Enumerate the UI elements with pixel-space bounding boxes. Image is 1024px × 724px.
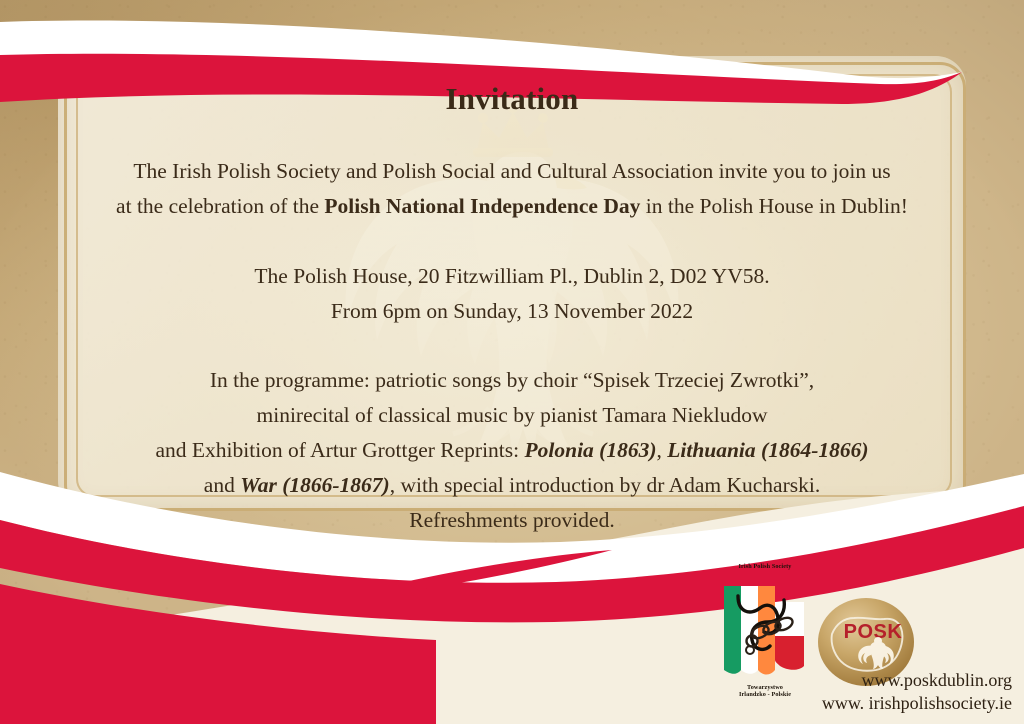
website-links: www.poskdublin.org www. irishpolishsocie… <box>822 669 1012 717</box>
page-title: Invitation <box>72 82 952 116</box>
programme-line-4-suffix: , with special introduction by dr Adam K… <box>390 473 821 497</box>
programme-line-5: Refreshments provided. <box>409 508 614 532</box>
venue-paragraph: The Polish House, 20 Fitzwilliam Pl., Du… <box>72 259 952 329</box>
independence-day-emphasis: Polish National Independence Day <box>324 194 640 218</box>
programme-line-1: In the programme: patriotic songs by cho… <box>210 368 814 392</box>
programme-line-4-prefix: and <box>204 473 240 497</box>
intro-paragraph: The Irish Polish Society and Polish Soci… <box>72 154 952 224</box>
invitation-card: Invitation The Irish Polish Society and … <box>0 0 1024 724</box>
programme-line-2: minirecital of classical music by pianis… <box>257 403 768 427</box>
intro-line-2-suffix: in the Polish House in Dublin! <box>640 194 908 218</box>
ips-caption-bottom: Towarzystwo Irlandzko - Polskie <box>712 684 818 700</box>
intro-line-1: The Irish Polish Society and Polish Soci… <box>133 159 890 183</box>
venue-datetime: From 6pm on Sunday, 13 November 2022 <box>331 299 693 323</box>
ips-flags-icon <box>720 578 810 682</box>
invitation-content: Invitation The Irish Polish Society and … <box>72 68 952 498</box>
programme-paragraph: In the programme: patriotic songs by cho… <box>72 363 952 537</box>
venue-address: The Polish House, 20 Fitzwilliam Pl., Du… <box>254 264 769 288</box>
ips-caption-bottom-line1: Towarzystwo <box>747 684 783 691</box>
artwork-title-lithuania: Lithuania (1864-1866) <box>667 438 868 462</box>
programme-line-3-prefix: and Exhibition of Artur Grottger Reprint… <box>155 438 524 462</box>
ips-caption-bottom-line2: Irlandzko - Polskie <box>739 691 791 698</box>
website-ips[interactable]: www. irishpolishsociety.ie <box>822 692 1012 716</box>
website-posk[interactable]: www.poskdublin.org <box>822 669 1012 693</box>
posk-wordmark: POSK <box>844 621 903 643</box>
ips-caption-top: Irish Polish Society <box>712 564 818 570</box>
artwork-separator: , <box>656 438 667 462</box>
intro-line-2-prefix: at the celebration of the <box>116 194 324 218</box>
irish-polish-society-logo: Irish Polish Society Towa <box>712 562 818 700</box>
artwork-title-war: War (1866-1867) <box>240 473 390 497</box>
artwork-title-polonia: Polonia (1863) <box>525 438 657 462</box>
